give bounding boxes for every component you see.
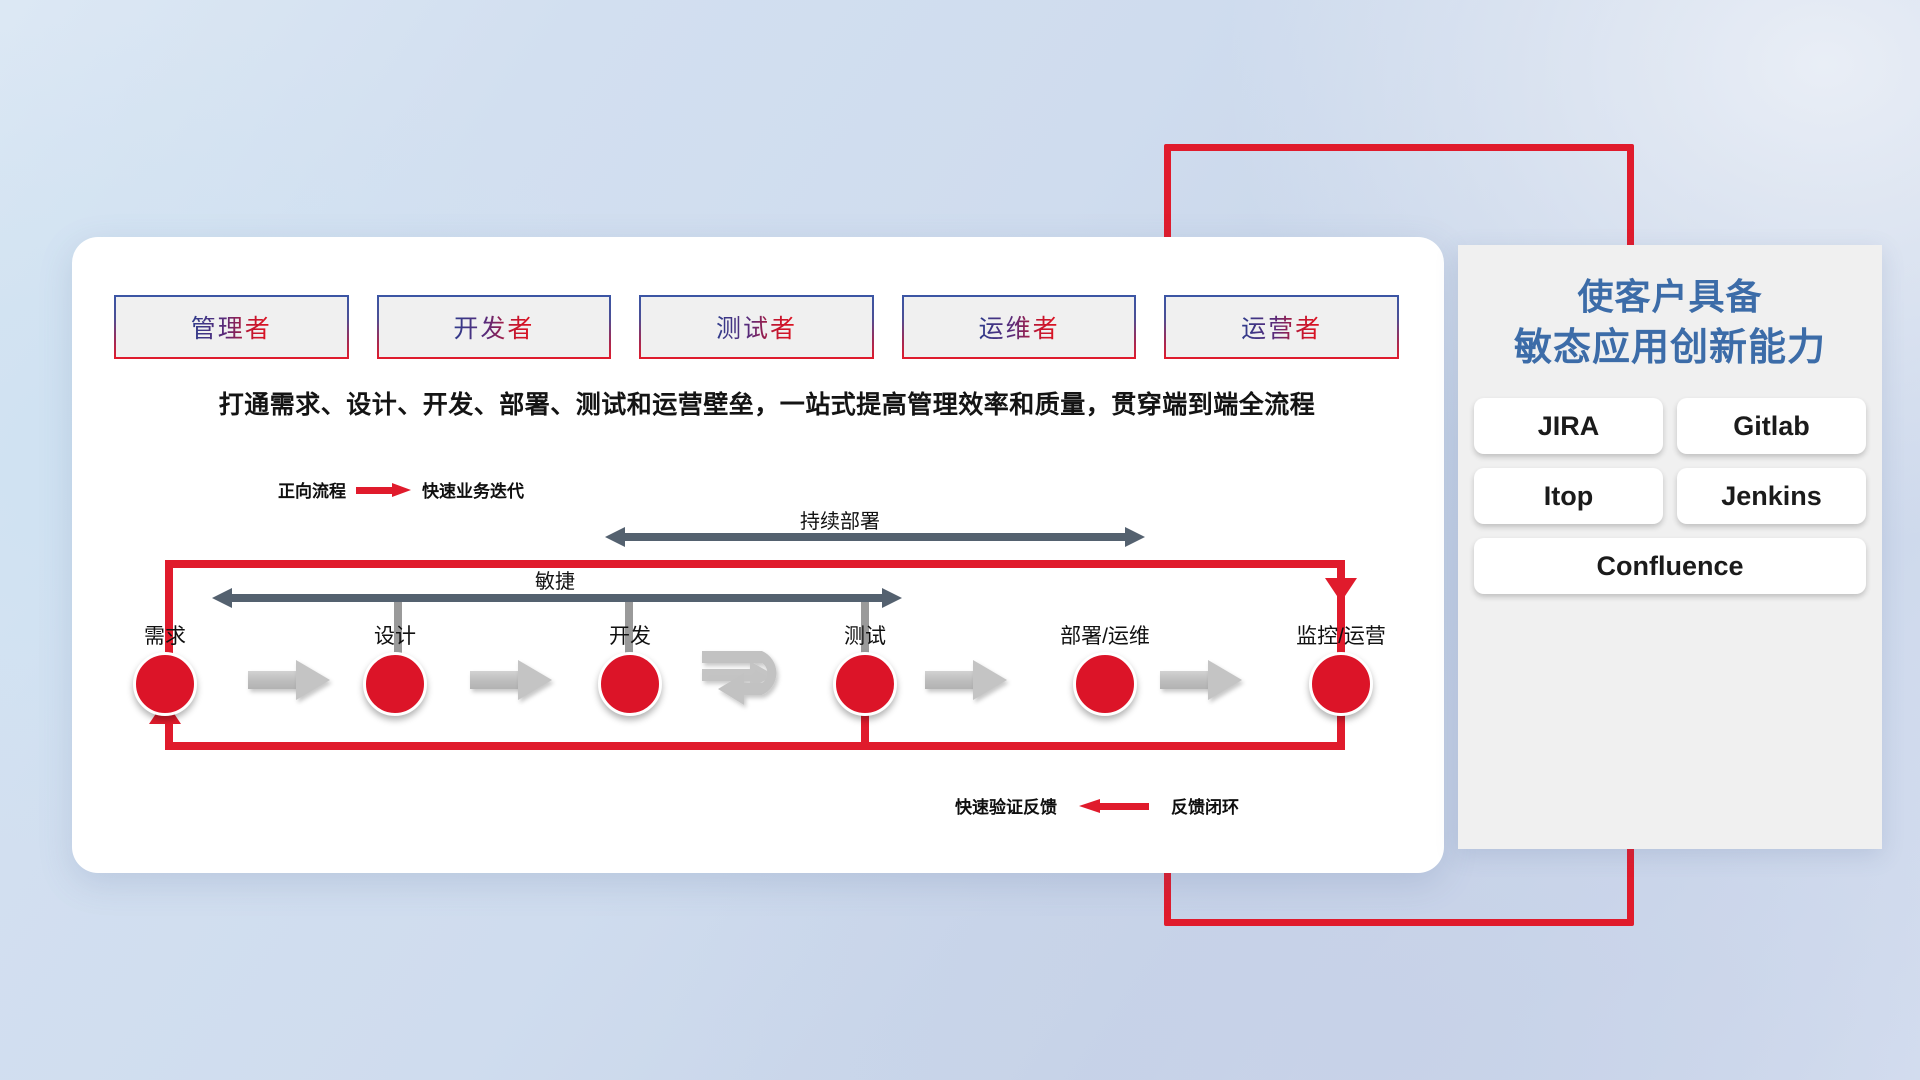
arrow-shaft bbox=[231, 594, 883, 602]
legend-feedback-left-label: 快速验证反馈 bbox=[955, 793, 1057, 818]
feedback-loop-bottom-line bbox=[165, 742, 1345, 750]
value-proposition-panel: 使客户具备 敏态应用创新能力 JIRA Gitlab Itop Jenkins … bbox=[1458, 245, 1882, 849]
stage-deploy-ops[interactable]: 部署/运维 bbox=[1040, 620, 1170, 716]
stage-monitor-operations[interactable]: 监控/运营 bbox=[1276, 620, 1406, 716]
arrow-shaft bbox=[925, 671, 977, 689]
arrow-head-left-icon bbox=[605, 527, 625, 547]
stage-label: 需求 bbox=[100, 620, 230, 650]
stage-testing[interactable]: 测试 bbox=[800, 620, 930, 716]
tool-card-jenkins[interactable]: Jenkins bbox=[1677, 468, 1866, 524]
role-box-tester[interactable]: 测试者 bbox=[639, 295, 874, 359]
legend-feedback-loop: 快速验证反馈 反馈闭环 bbox=[955, 793, 1239, 818]
stage-dot bbox=[133, 652, 197, 716]
stage-label: 设计 bbox=[330, 620, 460, 650]
flow-arrow-deploy-to-monitor-icon bbox=[1160, 660, 1246, 700]
arrow-shaft bbox=[470, 671, 522, 689]
stage-label: 测试 bbox=[800, 620, 930, 650]
stage-dot bbox=[1073, 652, 1137, 716]
legend-forward-flow: 正向流程 快速业务迭代 bbox=[278, 477, 524, 502]
role-box-business-operator[interactable]: 运营者 bbox=[1164, 295, 1399, 359]
tool-card-itop[interactable]: Itop bbox=[1474, 468, 1663, 524]
stage-dot bbox=[598, 652, 662, 716]
span-arrow-agile bbox=[212, 588, 902, 608]
stage-dot bbox=[1309, 652, 1373, 716]
flow-arrow-requirement-to-design-icon bbox=[248, 660, 334, 700]
legend-feedback-right-label: 反馈闭环 bbox=[1171, 793, 1239, 818]
arrow-head-right-icon bbox=[882, 588, 902, 608]
stage-development[interactable]: 开发 bbox=[565, 620, 695, 716]
uturn-loop-arrow-dev-test-icon bbox=[700, 645, 810, 717]
role-box-manager[interactable]: 管理者 bbox=[114, 295, 349, 359]
arrow-shaft bbox=[248, 671, 300, 689]
role-label: 测试者 bbox=[716, 309, 797, 345]
stage-requirement[interactable]: 需求 bbox=[100, 620, 230, 716]
arrow-head-icon bbox=[1208, 660, 1242, 700]
arrow-head-left-icon bbox=[212, 588, 232, 608]
feedback-loop-arrow-down-icon bbox=[1325, 578, 1357, 602]
role-label: 管理者 bbox=[191, 309, 272, 345]
role-label: 运营者 bbox=[1241, 309, 1322, 345]
arrow-left-red-icon bbox=[1079, 799, 1149, 813]
legend-forward-right-label: 快速业务迭代 bbox=[422, 477, 524, 502]
tool-card-confluence[interactable]: Confluence bbox=[1474, 538, 1866, 594]
arrow-shaft bbox=[624, 533, 1126, 541]
role-label: 开发者 bbox=[453, 309, 534, 345]
role-label: 运维者 bbox=[979, 309, 1060, 345]
panel-title-line2: 敏态应用创新能力 bbox=[1458, 322, 1882, 376]
arrow-head-right-icon bbox=[1125, 527, 1145, 547]
feedback-loop-top-line bbox=[165, 560, 1345, 568]
arrow-right-red-icon bbox=[356, 483, 412, 497]
legend-forward-left-label: 正向流程 bbox=[278, 477, 346, 502]
flow-arrow-design-to-dev-icon bbox=[470, 660, 556, 700]
stage-label: 部署/运维 bbox=[1040, 620, 1170, 650]
headline-text: 打通需求、设计、开发、部署、测试和运营壁垒，一站式提高管理效率和质量，贯穿端到端… bbox=[122, 385, 1412, 421]
main-diagram-card: 管理者 开发者 测试者 运维者 运营者 打通需求、设计、开发、部署、测试和运营壁… bbox=[72, 237, 1444, 873]
span-arrow-continuous-deployment bbox=[605, 527, 1145, 547]
stage-dot bbox=[833, 652, 897, 716]
arrow-head-icon bbox=[518, 660, 552, 700]
stage-label: 开发 bbox=[565, 620, 695, 650]
flow-arrow-test-to-deploy-icon bbox=[925, 660, 1011, 700]
panel-title-line1: 使客户具备 bbox=[1458, 271, 1882, 322]
panel-title: 使客户具备 敏态应用创新能力 bbox=[1458, 271, 1882, 376]
stage-dot bbox=[363, 652, 427, 716]
arrow-head-icon bbox=[296, 660, 330, 700]
stage-design[interactable]: 设计 bbox=[330, 620, 460, 716]
role-boxes-row: 管理者 开发者 测试者 运维者 运营者 bbox=[114, 295, 1399, 359]
tool-list: JIRA Gitlab Itop Jenkins Confluence bbox=[1474, 398, 1866, 594]
tool-card-gitlab[interactable]: Gitlab bbox=[1677, 398, 1866, 454]
stage-label: 监控/运营 bbox=[1276, 620, 1406, 650]
role-box-developer[interactable]: 开发者 bbox=[377, 295, 612, 359]
tool-card-jira[interactable]: JIRA bbox=[1474, 398, 1663, 454]
role-box-operator[interactable]: 运维者 bbox=[902, 295, 1137, 359]
arrow-head-icon bbox=[973, 660, 1007, 700]
